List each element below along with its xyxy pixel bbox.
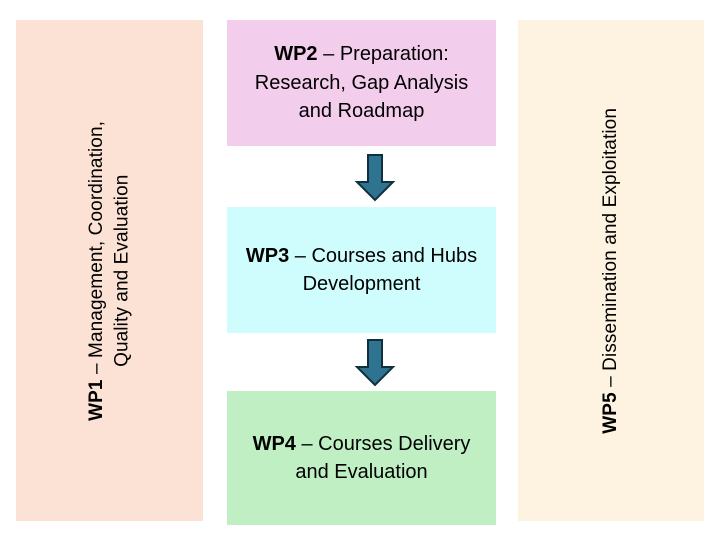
panel-wp5-text: WP5 – Dissemination and Exploitation: [598, 108, 624, 434]
box-wp2-code: WP2: [274, 43, 317, 65]
panel-wp5-code: WP5: [600, 392, 621, 433]
box-wp4-separator: –: [296, 433, 318, 455]
down-arrow-icon: [354, 154, 396, 202]
box-wp2[interactable]: WP2 – Preparation: Research, Gap Analysi…: [227, 20, 496, 146]
panel-wp5-description: Dissemination and Exploitation: [600, 108, 621, 371]
center-flow-column: WP2 – Preparation: Research, Gap Analysi…: [227, 20, 496, 525]
panel-wp1[interactable]: WP1 – Management, Coordination, Quality …: [16, 20, 203, 521]
panel-wp1-description: Management, Coordination, Quality and Ev…: [86, 121, 133, 367]
box-wp3-code: WP3: [246, 245, 289, 267]
arrow-wp3-to-wp4: [354, 339, 396, 387]
box-wp3-text: WP3 – Courses and Hubs Development: [237, 242, 486, 299]
panel-wp1-code: WP1: [86, 379, 107, 420]
panel-wp1-separator: –: [86, 358, 107, 379]
box-wp3[interactable]: WP3 – Courses and Hubs Development: [227, 207, 496, 333]
box-wp4-description: Courses Delivery and Evaluation: [295, 433, 470, 483]
box-wp4-code: WP4: [253, 433, 296, 455]
box-wp3-separator: –: [289, 245, 311, 267]
box-wp4-text: WP4 – Courses Delivery and Evaluation: [237, 430, 486, 487]
box-wp2-text: WP2 – Preparation: Research, Gap Analysi…: [237, 40, 486, 125]
arrow-wp2-to-wp3: [354, 154, 396, 202]
box-wp3-description: Courses and Hubs Development: [303, 245, 478, 295]
work-package-diagram: WP1 – Management, Coordination, Quality …: [0, 0, 720, 540]
panel-wp5-separator: –: [600, 370, 621, 391]
down-arrow-icon: [354, 339, 396, 387]
panel-wp1-text: WP1 – Management, Coordination, Quality …: [84, 121, 135, 421]
box-wp2-separator: –: [318, 43, 340, 65]
panel-wp5[interactable]: WP5 – Dissemination and Exploitation: [518, 20, 704, 521]
box-wp4[interactable]: WP4 – Courses Delivery and Evaluation: [227, 391, 496, 525]
